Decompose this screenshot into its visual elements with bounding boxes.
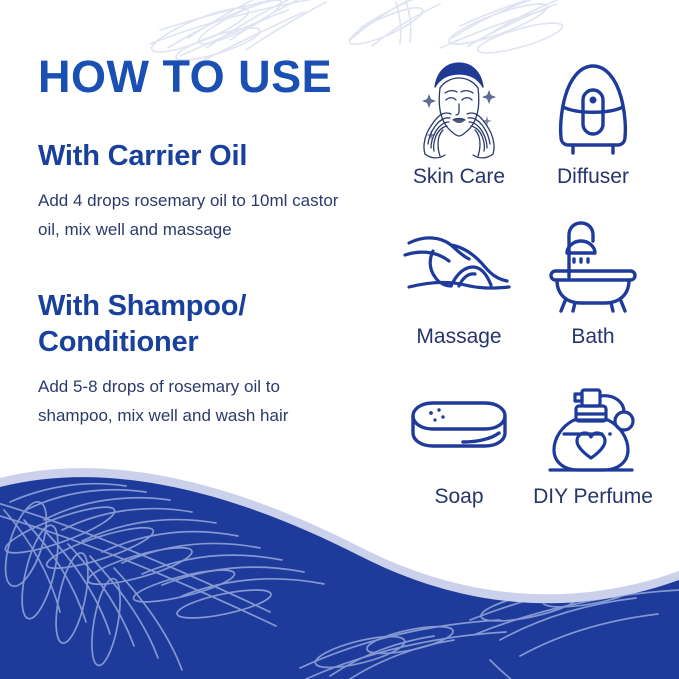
face-skincare-icon — [407, 52, 511, 162]
how-to-use-infographic: HOW TO USE With Carrier Oil Add 4 drops … — [0, 0, 679, 679]
use-item-diy-perfume: DIY Perfume — [526, 372, 660, 524]
use-item-soap: Soap — [392, 372, 526, 524]
instruction-carrier-oil: With Carrier Oil Add 4 drops rosemary oi… — [38, 138, 383, 244]
diffuser-icon — [547, 52, 639, 162]
page-title: HOW TO USE — [38, 52, 383, 102]
content-area: HOW TO USE With Carrier Oil Add 4 drops … — [0, 0, 679, 679]
use-label: Soap — [434, 484, 483, 510]
instruction-body: Add 5-8 drops of rosemary oil to shampoo… — [38, 372, 358, 430]
use-label: Diffuser — [557, 164, 629, 190]
use-label: Skin Care — [413, 164, 505, 190]
perfume-atomizer-icon — [544, 372, 642, 482]
instructions-column: HOW TO USE With Carrier Oil Add 4 drops … — [38, 52, 383, 430]
instruction-heading: With Shampoo/ Conditioner — [38, 288, 383, 360]
use-label: DIY Perfume — [533, 484, 653, 510]
uses-icon-grid: Skin Care — [392, 52, 660, 524]
use-item-diffuser: Diffuser — [526, 52, 660, 204]
instruction-body: Add 4 drops rosemary oil to 10ml castor … — [38, 186, 358, 244]
use-item-massage: Massage — [392, 212, 526, 364]
use-label: Massage — [416, 324, 501, 350]
bathtub-shower-icon — [543, 212, 643, 322]
instruction-heading: With Carrier Oil — [38, 138, 383, 174]
use-label: Bath — [571, 324, 614, 350]
instruction-shampoo-conditioner: With Shampoo/ Conditioner Add 5-8 drops … — [38, 288, 383, 430]
use-item-bath: Bath — [526, 212, 660, 364]
soap-bar-icon — [407, 372, 511, 482]
use-item-skin-care: Skin Care — [392, 52, 526, 204]
massage-hand-icon — [403, 212, 515, 322]
